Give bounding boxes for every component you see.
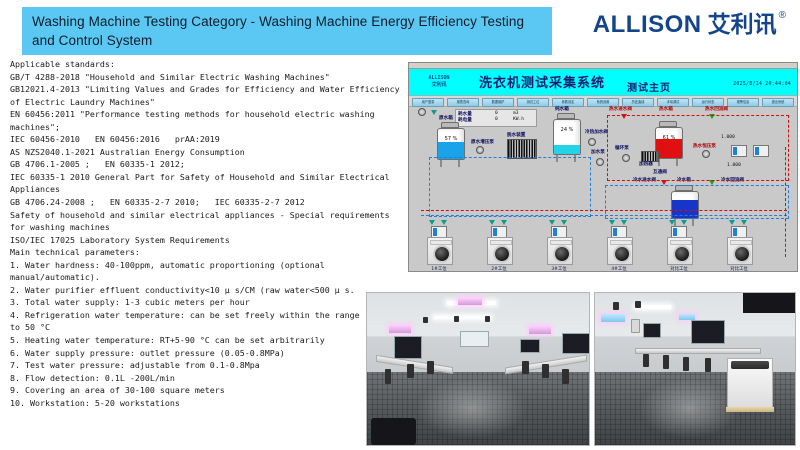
tank-body: 57 %	[437, 128, 465, 160]
spec-line: 2. Water purifier effluent conductivity<…	[10, 284, 410, 297]
photo-monitor	[643, 323, 661, 337]
station-valve	[669, 219, 676, 226]
hmi-toolbar-button-9[interactable]: 报警信息	[727, 98, 759, 107]
spec-line: IEC 60335-1 2010 General Part for Safety…	[10, 171, 410, 184]
meter-1-unit: KW.h	[513, 117, 524, 122]
station-valve	[609, 219, 616, 226]
wm-door-icon	[613, 245, 631, 263]
hmi-toolbar-button-10[interactable]: 退出系统	[762, 98, 794, 107]
spec-line: 10. Workstation: 5-20 workstations	[10, 397, 410, 410]
photo-valve-station	[542, 364, 549, 378]
washing-machine	[607, 237, 633, 265]
tank-2-percent: 61 %	[656, 135, 682, 141]
wm-door-icon	[733, 245, 751, 263]
photo-valve-station	[407, 364, 414, 378]
photo-valve-station	[385, 369, 392, 384]
spec-line: IEC 60456-2010 EN 60456:2016 prAA:2019	[10, 133, 410, 146]
header-pipe-blue	[421, 215, 787, 216]
spec-line: GB 4706.24-2008 ; EN 60335-2-7 2010; IEC…	[10, 196, 410, 209]
washing-machine	[667, 237, 693, 265]
photo-valve-station	[663, 355, 669, 369]
photo-ceiling-light	[434, 316, 492, 319]
logo-text-cn: 艾利讯	[708, 10, 777, 40]
spec-line: GB12021.4-2013 "Limiting Values and Grad…	[10, 83, 410, 96]
lab-photo-with-unit	[594, 292, 796, 446]
photo-overlay-corner	[743, 292, 795, 313]
photo-monitor	[562, 333, 590, 355]
spec-line: of Electric Laundry Machines"	[10, 96, 410, 109]
photo-ceiling-fixture	[423, 317, 429, 323]
hmi-titlebar: ALLISON艾利讯 洗衣机测试采集系统 测试主页 2025/8/14 20:4…	[409, 69, 797, 96]
wm-door-icon	[553, 245, 571, 263]
station-valve	[741, 219, 748, 226]
spec-line: Main technical parameters:	[10, 246, 410, 259]
station-6: 对比工位	[727, 237, 751, 272]
pump-booster	[475, 145, 484, 153]
device-hot-return-valve-label: 热水回流阀	[705, 106, 728, 112]
photo-ceiling-fixture	[635, 301, 641, 309]
purifier-module	[507, 139, 537, 159]
spec-line: ISO/IEC 17025 Laboratory System Requirem…	[10, 234, 410, 247]
washing-machine	[547, 237, 573, 265]
spec-line: 7. Test water pressure: adjustable from …	[10, 359, 410, 372]
tank-1-label: 纯水箱	[555, 106, 569, 112]
spec-line: AS NZS2040.1-2021 Australian Energy Cons…	[10, 146, 410, 159]
spec-line: for washing machines	[10, 221, 410, 234]
tank-2-label: 热水箱	[659, 106, 673, 112]
spec-line: 4. Refrigeration water temperature: can …	[10, 309, 410, 322]
station-5-label: 对比工位	[667, 266, 691, 272]
station-4-label: 4#工位	[607, 266, 631, 272]
photo-valve-station	[427, 361, 434, 373]
device-add-pump-label: 加水泵	[591, 149, 605, 155]
spec-line: machines";	[10, 121, 410, 134]
photo-valve-station	[562, 369, 569, 384]
photo-valve-station	[643, 354, 649, 368]
page-title: Washing Machine Testing Category - Washi…	[22, 7, 552, 55]
meter-0-value: 0	[495, 111, 498, 116]
station-valve	[441, 219, 448, 226]
spec-line: 5. Heating water temperature: RT+5-90 °C…	[10, 334, 410, 347]
device-hot-inlet-valve-label: 热水进水阀	[609, 106, 632, 112]
hmi-scada-screenshot: ALLISON艾利讯 洗衣机测试采集系统 测试主页 2025/8/14 20:4…	[408, 62, 798, 272]
tank-0-label: 原水箱	[439, 115, 453, 121]
station-valve	[681, 219, 688, 226]
station-3: 3#工位	[547, 237, 571, 272]
station-valve	[729, 219, 736, 226]
pump-cold-hot	[587, 137, 596, 145]
station-3-label: 3#工位	[547, 266, 571, 272]
photo-ceiling-fixture	[485, 316, 491, 322]
station-2-label: 2#工位	[487, 266, 511, 272]
station-1: 1#工位	[427, 237, 451, 272]
washing-machine	[427, 237, 453, 265]
photo-ceiling-fixture	[613, 302, 619, 310]
device-dehydrator-label: 脱水装置	[507, 132, 525, 138]
station-valve	[549, 219, 556, 226]
specification-text: Applicable standards:GB/T 4288-2018 "Hou…	[10, 58, 410, 409]
spec-line: 6. Water supply pressure: outlet pressur…	[10, 347, 410, 360]
tank-1-percent: 24 %	[554, 127, 580, 133]
spec-line: manual/automatic).	[10, 271, 410, 284]
station-valve	[429, 219, 436, 226]
tank-pure-water: 24 %	[553, 113, 579, 162]
hmi-toolbar: 用户登录报表查询数据维护测试工位参数设定系统设置历史曲线手动调试运行状态报警信息…	[409, 96, 797, 107]
photo-monitor	[394, 336, 423, 359]
page-header: Washing Machine Testing Category - Washi…	[0, 0, 800, 58]
photo-floor-reflection	[639, 378, 739, 439]
tank-body: 24 %	[553, 119, 581, 155]
valve-inlet	[431, 109, 438, 116]
meter-1-value: 0	[495, 117, 498, 122]
station-1-label: 1#工位	[427, 266, 451, 272]
return-riser-red	[785, 147, 786, 257]
device-cold-hot-valve-label: 冷热加水阀	[585, 129, 608, 135]
wm-door-icon	[493, 245, 511, 263]
hmi-toolbar-button-0[interactable]: 用户登录	[412, 98, 444, 107]
hmi-datetime: 2025/8/14 20:44:04	[733, 81, 791, 87]
hmi-main-title: 洗衣机测试采集系统	[479, 72, 605, 91]
meter-0-unit: m3	[513, 111, 519, 116]
photo-purple-light	[389, 325, 411, 333]
photo-machine-lid	[731, 361, 770, 369]
station-valve	[621, 219, 628, 226]
tank-level-fill	[554, 145, 580, 154]
photo-valve-station	[522, 361, 529, 373]
photo-machine-base	[726, 407, 774, 412]
washing-machine	[487, 237, 513, 265]
photo-control-box	[631, 319, 640, 333]
raw-water-loop	[429, 157, 591, 217]
cold-water-loop	[605, 185, 789, 219]
photo-wall-panel	[460, 331, 489, 347]
spec-line: 9. Covering an area of 30-100 square met…	[10, 384, 410, 397]
hmi-toolbar-button-2[interactable]: 数据维护	[482, 98, 514, 107]
photo-monitor	[691, 320, 725, 343]
station-6-label: 对比工位	[727, 266, 751, 272]
spec-line: GB 4706.1-2005 ; EN 60335-1 2012;	[10, 158, 410, 171]
meter-0-label: 耗水量	[458, 111, 472, 117]
tank-0-percent: 57 %	[438, 136, 464, 142]
photo-pipe-rail	[635, 348, 761, 355]
station-5: 对比工位	[667, 237, 691, 272]
hmi-toolbar-button-3[interactable]: 测试工位	[517, 98, 549, 107]
hmi-sub-title: 测试主页	[627, 79, 671, 94]
photo-blue-light	[601, 314, 625, 322]
photo-monitor	[520, 339, 540, 353]
spec-line: to 50 °C	[10, 321, 410, 334]
wm-door-icon	[433, 245, 451, 263]
spec-line: 8. Flow detection: 0.1L -200L/min	[10, 372, 410, 385]
company-logo: ALLISON 艾利讯 ®	[593, 10, 786, 48]
photo-valve-station	[683, 357, 689, 371]
station-valve	[561, 219, 568, 226]
logo-text-en: ALLISON	[593, 10, 702, 40]
photo-floor-reflection	[416, 378, 527, 439]
spec-line: GB/T 4288-2018 "Household and Similar El…	[10, 71, 410, 84]
spec-line: 1. Water hardness: 40-100ppm, automatic …	[10, 259, 410, 272]
header-pipe-red	[421, 210, 787, 211]
lab-photo-wide	[366, 292, 590, 446]
station-valve	[489, 219, 496, 226]
station-4: 4#工位	[607, 237, 631, 272]
wm-door-icon	[673, 245, 691, 263]
spec-line: EN 60456:2011 "Performance testing metho…	[10, 108, 410, 121]
pump-inlet	[417, 107, 426, 115]
station-valve	[501, 219, 508, 226]
station-2: 2#工位	[487, 237, 511, 272]
spec-line: Appliances	[10, 183, 410, 196]
spec-line: Applicable standards:	[10, 58, 410, 71]
spec-line: Safety of household and similar electric…	[10, 209, 410, 222]
photo-valve-station	[705, 358, 711, 372]
hmi-toolbar-button-1[interactable]: 报表查询	[447, 98, 479, 107]
registered-trademark-icon: ®	[779, 10, 786, 22]
photo-ceiling-fixture	[454, 316, 460, 322]
hot-water-loop	[607, 115, 789, 181]
photo-foreground-object	[371, 418, 415, 445]
photo-purple-light	[529, 326, 551, 334]
hmi-brand-logo: ALLISON艾利讯	[413, 73, 465, 91]
pump-add-water	[595, 157, 604, 165]
hmi-process-diagram: 耗水量 0 m3 耗电量 0 KW.h 原水箱 57 % 原水增压泵 脱水装置 …	[409, 107, 797, 272]
washing-machine	[727, 237, 753, 265]
photo-purple-light	[458, 298, 482, 306]
photo-washing-machine	[727, 358, 773, 409]
spec-line: 3. Total water supply: 1-3 cubic meters …	[10, 296, 410, 309]
